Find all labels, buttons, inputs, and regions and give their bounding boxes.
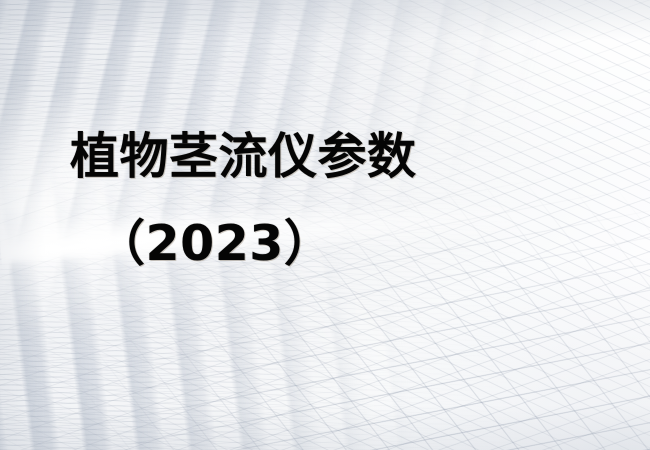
title-slide: 植物茎流仪参数 （2023） (0, 0, 650, 450)
page-subtitle-year: （2023） (96, 219, 590, 268)
page-title: 植物茎流仪参数 (70, 132, 590, 181)
title-block: 植物茎流仪参数 （2023） (70, 132, 590, 268)
